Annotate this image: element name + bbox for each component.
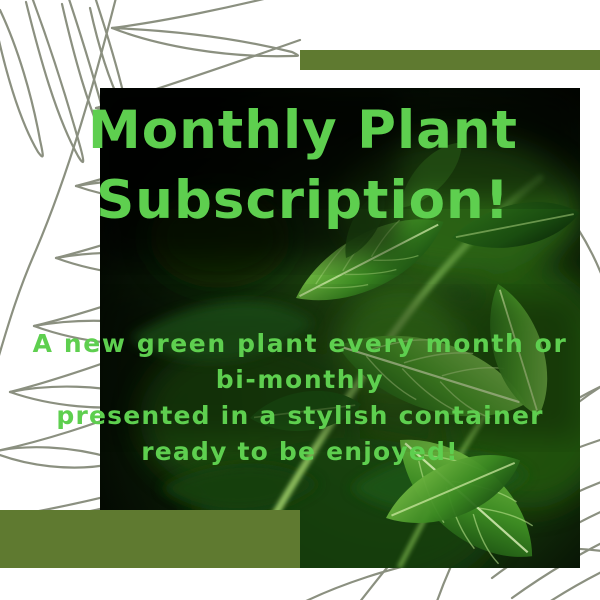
plant-photo bbox=[100, 88, 580, 568]
top-accent-bar bbox=[300, 50, 600, 70]
bottom-accent-block bbox=[0, 510, 300, 568]
poster-canvas: Monthly Plant Subscription! A new green … bbox=[0, 0, 600, 600]
